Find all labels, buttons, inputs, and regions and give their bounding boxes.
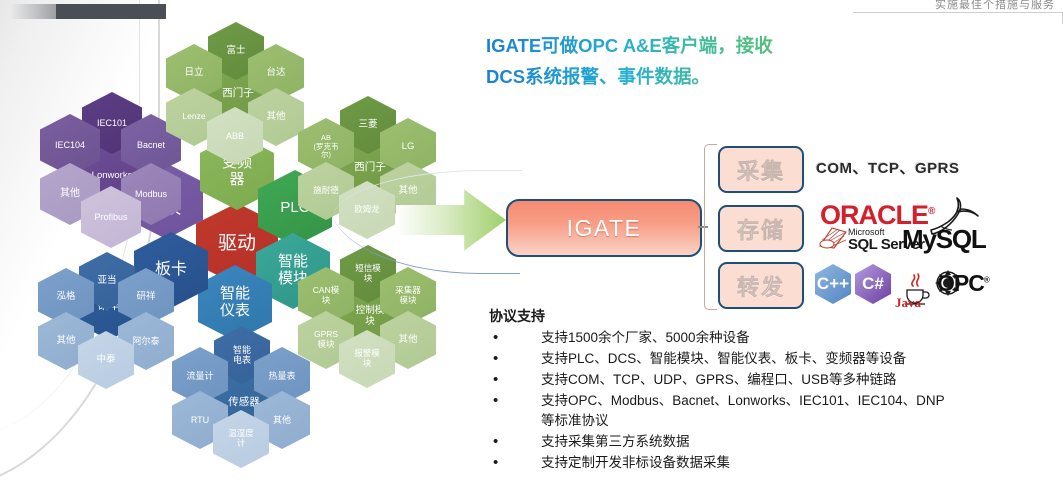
hex-node-label: 泓格	[54, 292, 77, 303]
protocol-list-item: •支持定制开发非标设备数据采集	[489, 453, 959, 473]
hex-node-label: 短信模 块	[353, 264, 383, 283]
hex-node-label: 台达	[264, 68, 287, 79]
bullet-icon: •	[489, 453, 541, 473]
hex-node-label: 三菱	[356, 120, 379, 131]
sqlserver-icon	[818, 226, 848, 250]
hex-node-label: 报警模 块	[352, 349, 382, 368]
hex-node-label: Profibus	[92, 212, 129, 222]
hex-node-label: 其他	[264, 112, 287, 123]
protocol-support-list: •支持1500余个厂家、5000余种设备•支持PLC、DCS、智能模块、智能仪表…	[489, 328, 959, 473]
opc-label: OPC	[937, 270, 984, 296]
hex-node-label: Lenze	[180, 112, 207, 122]
bullet-icon: •	[489, 391, 541, 411]
bullet-icon: •	[489, 349, 541, 369]
cpp-label: C++	[817, 274, 849, 294]
mysql-label: MySQL	[902, 224, 986, 254]
header-rule	[853, 12, 1063, 13]
hex-node-label: 热量表	[266, 371, 297, 381]
hex-node-label: 智能 电表	[231, 345, 253, 365]
hex-node-label: IEC101	[95, 118, 129, 128]
hex-node-label: 其他	[54, 336, 77, 347]
protocol-list-item: •支持PLC、DCS、智能模块、智能仪表、板卡、变频器等设备	[489, 349, 959, 369]
pill-forward[interactable]: 转发	[718, 262, 804, 309]
hex-node-label: 中泰	[94, 355, 117, 366]
links-text: COM、TCP、GPRS	[816, 157, 960, 178]
opc-tm: ®	[984, 275, 989, 284]
language-logo-row: C++ C# Java OPC®	[815, 264, 995, 308]
protocol-list-item-text: 支持COM、TCP、UDP、GPRS、编程口、USB等多种链路	[541, 370, 959, 390]
protocol-list-item: •支持采集第三方系统数据	[489, 432, 959, 452]
protocol-list-item: •支持1500余个厂家、5000余种设备	[489, 328, 959, 348]
protocol-list-item: •支持COM、TCP、UDP、GPRS、编程口、USB等多种链路	[489, 370, 959, 390]
page-title: IGATE可做OPC A&E客户端，接收 DCS系统报警、事件数据。	[486, 30, 826, 92]
hex-node-label: LG	[400, 142, 417, 153]
mysql-logo: MySQL	[902, 224, 986, 255]
pill-storage[interactable]: 存储	[718, 205, 804, 252]
cpp-icon: C++	[815, 264, 851, 304]
hex-node-label: 西门子	[220, 88, 256, 100]
igate-label: IGATE	[567, 215, 642, 242]
protocol-list-item-text: 支持定制开发非标设备数据采集	[541, 453, 959, 473]
csharp-label: C#	[862, 274, 884, 294]
protocol-list-item: •支持OPC、Modbus、Bacnet、Lonworks、IEC101、IEC…	[489, 391, 959, 431]
hex-node-label: 亚当	[95, 276, 118, 287]
hex-node-label: CAN模 块	[311, 286, 341, 305]
hex-node-label: Bacnet	[135, 140, 167, 150]
hex-node-label: RTU	[189, 415, 211, 425]
hex-node-label: 驱动	[216, 233, 258, 254]
pill-collect[interactable]: 采集	[718, 146, 804, 193]
oracle-tm: ®	[928, 206, 934, 217]
protocol-list-item-text: 支持1500余个厂家、5000余种设备	[541, 328, 959, 348]
hex-node-label: AB (罗克韦 尔)	[312, 134, 341, 159]
protocol-support-heading: 协议支持	[489, 306, 959, 326]
hex-node-label: Modbus	[133, 189, 169, 199]
hex-node-label: 其他	[396, 335, 419, 346]
protocol-list-item-text: 支持PLC、DCS、智能模块、智能仪表、板卡、变频器等设备	[541, 349, 959, 369]
bracket-icon	[704, 144, 717, 310]
hex-node-label: 其他	[58, 188, 82, 199]
hex-node-label: 施耐德	[311, 186, 341, 196]
pill-storage-label: 存储	[737, 213, 785, 245]
hex-node-label: ABB	[224, 131, 246, 141]
pill-collect-label: 采集	[737, 154, 785, 186]
bullet-icon: •	[489, 328, 541, 348]
opc-logo: OPC®	[937, 270, 989, 297]
csharp-icon: C#	[855, 264, 891, 304]
protocol-support-section: 协议支持 •支持1500余个厂家、5000余种设备•支持PLC、DCS、智能模块…	[489, 306, 959, 474]
hex-node-label: 温湿度 计	[226, 429, 256, 448]
slide-canvas: 实施最佳个措施与服务 IGATE可做OPC A&E客户端，接收 DCS系统报警、…	[0, 0, 1063, 491]
hex-node-label: GPRS 模块	[312, 330, 340, 349]
hex-node-label: 流量计	[184, 371, 215, 381]
header-cut-text: 实施最佳个措施与服务	[935, 0, 1055, 12]
bullet-icon: •	[489, 370, 541, 390]
protocol-list-item-text: 支持OPC、Modbus、Bacnet、Lonworks、IEC101、IEC1…	[541, 391, 959, 431]
protocol-list-item-text: 支持采集第三方系统数据	[541, 432, 959, 452]
hex-node-label: 研祥	[134, 292, 157, 303]
hex-node-label: 西门子	[352, 162, 388, 174]
hex-node-label: 采集器 模块	[393, 286, 423, 305]
igate-box[interactable]: IGATE	[506, 199, 702, 257]
hex-node-label: 其他	[271, 415, 293, 425]
hex-node-label: 富士	[224, 46, 247, 57]
pill-forward-label: 转发	[737, 270, 785, 302]
bullet-icon: •	[489, 432, 541, 452]
hex-node-label: 日立	[182, 68, 205, 79]
hex-node-label: 阿尔泰	[130, 336, 161, 346]
hex-node-label: 智能 仪表	[218, 286, 252, 320]
hex-node-label: IEC104	[53, 140, 87, 150]
